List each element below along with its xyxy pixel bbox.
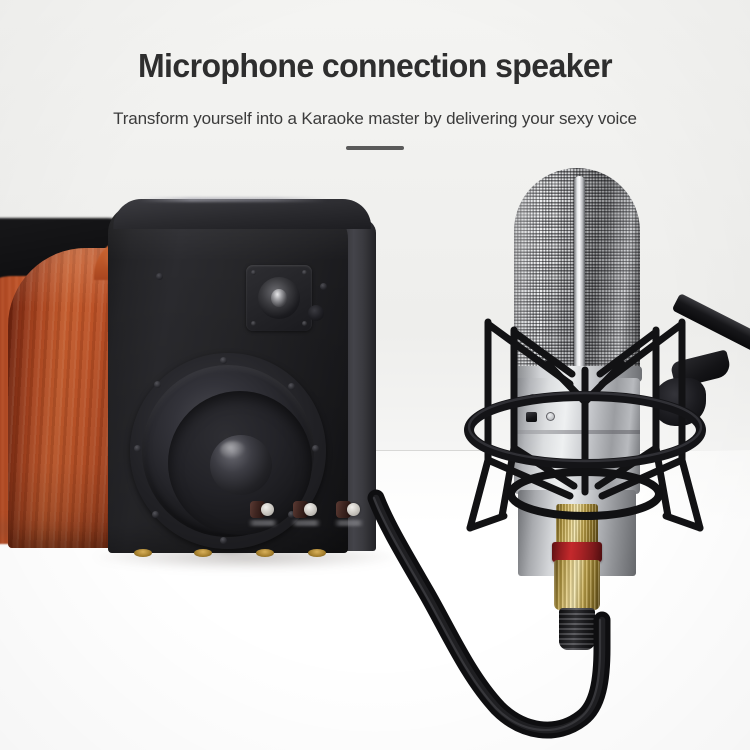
woofer-screw <box>312 445 319 452</box>
speaker-foot <box>134 549 152 557</box>
bass-port <box>308 305 324 321</box>
woofer-screw <box>220 357 227 364</box>
speaker-top-panel <box>113 199 373 229</box>
title-divider <box>346 146 404 150</box>
speaker-top-edge-highlight <box>139 197 327 202</box>
speaker-foot <box>308 549 326 557</box>
knob-label <box>291 520 321 526</box>
woofer-screw <box>154 381 161 388</box>
speaker-foot <box>256 549 274 557</box>
knob-label <box>248 520 278 526</box>
baffle-screw <box>156 273 163 280</box>
speaker-foot <box>194 549 212 557</box>
page-subtitle: Transform yourself into a Karaoke master… <box>0 107 750 131</box>
tweeter-screw <box>302 321 307 326</box>
banner-header: Microphone connection speaker Transform … <box>0 0 750 175</box>
speaker-feet <box>130 549 330 559</box>
woofer-screw <box>152 511 159 518</box>
woofer-screw <box>288 383 295 390</box>
cable-path <box>330 480 660 750</box>
woofer-highlight <box>220 441 246 459</box>
baffle-screw <box>320 283 327 290</box>
knob-cap <box>304 503 317 516</box>
tweeter-screw <box>251 270 256 275</box>
tweeter-screw <box>251 321 256 326</box>
bass-knob[interactable] <box>293 501 319 519</box>
page-title: Microphone connection speaker <box>11 46 739 86</box>
volume-knob[interactable] <box>250 501 276 519</box>
microphone-cable <box>330 480 660 750</box>
tweeter-ring <box>258 277 300 319</box>
product-banner: Microphone connection speaker Transform … <box>0 0 750 750</box>
woofer-screw <box>220 537 227 544</box>
knob-cap <box>261 503 274 516</box>
tweeter-screw <box>302 270 307 275</box>
tweeter-dome <box>271 289 287 307</box>
woofer-screw <box>134 445 141 452</box>
tweeter-driver <box>246 265 312 331</box>
